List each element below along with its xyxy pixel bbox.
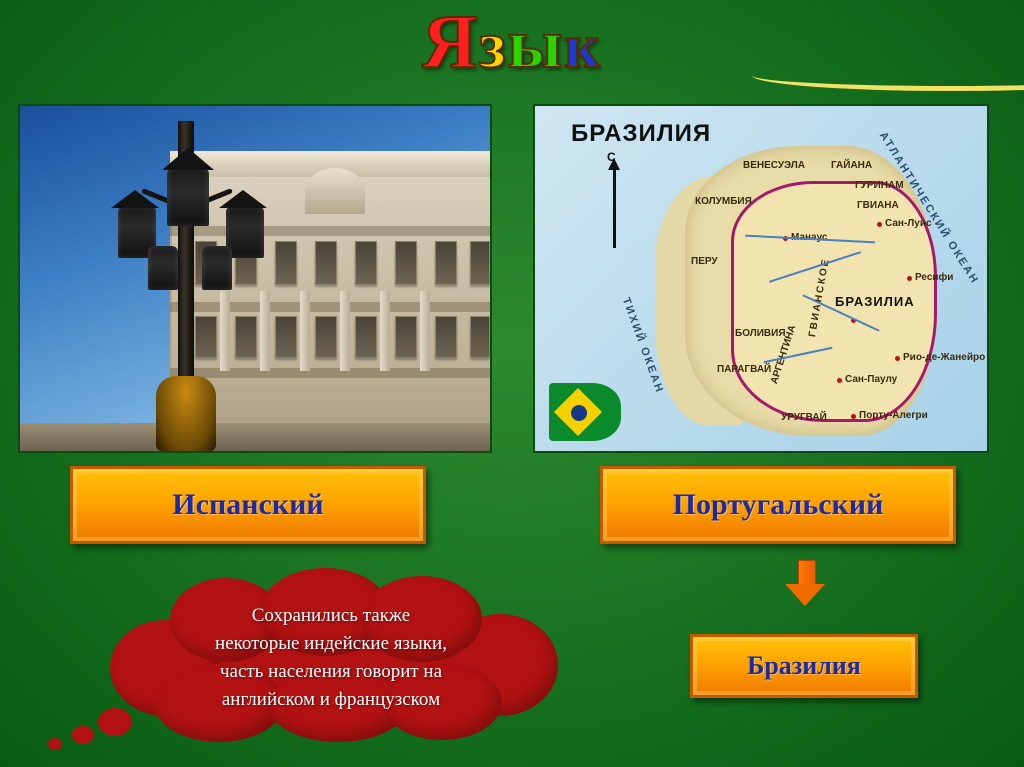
photo-foreground [20,423,490,451]
down-arrow-icon [794,560,816,604]
palace-window [395,241,417,285]
map-city-label: Сан-Паулу [845,374,897,385]
map-country-label: БОЛИВИЯ [735,328,786,339]
map-country-label: ПЕРУ [691,256,718,267]
cloud-tail-bubble [48,738,62,750]
label-capital-text: Бразилия [747,651,861,681]
palace-column [260,291,270,371]
page-title: Язык [0,2,1024,88]
arrow-head [785,584,825,606]
palace-window [355,316,377,358]
map-country-label: ГАЙАНА [831,160,872,171]
map-city-dot [837,378,842,383]
palace-cornice-1 [170,226,492,236]
note-line-4: английском и французском [148,686,514,714]
map-city-label: Сан-Луис [885,218,932,229]
palace-column [340,291,350,371]
label-spanish-text: Испанский [172,488,323,522]
map-country-label: УРУГВАЙ [781,412,827,423]
palace-dome [305,168,365,214]
note-text: Сохранились также некоторые индейские яз… [148,602,514,714]
palace-window [315,316,337,358]
map-city-dot [907,276,912,281]
palace-window [275,316,297,358]
map-country-label: ГВИАНА [857,200,899,211]
palace-window [195,316,217,358]
palace-window [435,316,457,358]
label-portuguese-text: Португальский [673,488,884,522]
palace-window [395,316,417,358]
label-box-portuguese[interactable]: Португальский [600,466,956,544]
palace-column [220,291,230,371]
street-lamp-lantern [167,168,209,226]
palace-window [315,241,337,285]
title-letter-2: з [479,6,508,86]
label-box-spanish[interactable]: Испанский [70,466,426,544]
palace-window [470,316,490,358]
map-country-label: ВЕНЕСУЭЛА [743,160,805,171]
brazil-flag-icon [549,383,621,441]
title-letter-3: ы [508,5,565,85]
street-lamp-lantern-hat [111,190,159,208]
title-letter-1: Я [422,2,479,82]
map-country-label: КОЛУМБИЯ [695,196,752,207]
cloud-tail-bubble [98,708,132,736]
palace-column [420,291,430,371]
street-lamp-lantern [202,246,232,290]
street-lamp-lantern-hat [219,190,267,208]
title-letter-4: к [564,7,602,87]
map-city-label: Ресифи [915,272,953,283]
palace-column [380,291,390,371]
palace-window [470,241,490,285]
thought-cloud: Сохранились также некоторые индейские яз… [110,572,550,744]
note-line-3: часть населения говорит на [148,658,514,686]
street-lamp-lantern [148,246,178,290]
street-lamp-base [156,376,216,451]
map-city-label: Рио-де-Жанейро [903,352,985,363]
palace-window [275,241,297,285]
compass-north-arrow-icon [613,168,616,248]
palace-window [435,241,457,285]
map-city-dot [895,356,900,361]
map-title: БРАЗИЛИЯ [571,120,711,148]
map-capital-label: БРАЗИЛИА [835,294,915,309]
map-city-label: Порту-Алегри [859,410,928,421]
street-lamp-lantern-hat [162,148,214,170]
palace-window [235,316,257,358]
title-text: Язык [422,2,602,87]
title-underline-swoosh [752,60,1024,91]
palace-window [355,241,377,285]
palace-cornice-3 [170,368,492,378]
label-box-capital[interactable]: Бразилия [690,634,918,698]
flag-globe [571,405,587,421]
note-line-1: Сохранились также [148,602,514,630]
cloud-tail-bubble [72,726,94,744]
palace-column [300,291,310,371]
palace-cornice-2 [170,302,492,312]
map-country-label: ГУРИНАМ [855,180,904,191]
note-line-2: некоторые индейские языки, [148,630,514,658]
map-brazil: БРАЗИЛИЯ С АТЛАНТИЧЕСКИЙ ОКЕАН ТИХИЙ ОКЕ… [533,104,989,453]
map-city-dot [851,414,856,419]
map-city-dot [877,222,882,227]
map-country-label: ПАРАГВАЙ [717,364,771,375]
photo-spain-palace [18,104,492,453]
slide-canvas: Язык [0,0,1024,767]
